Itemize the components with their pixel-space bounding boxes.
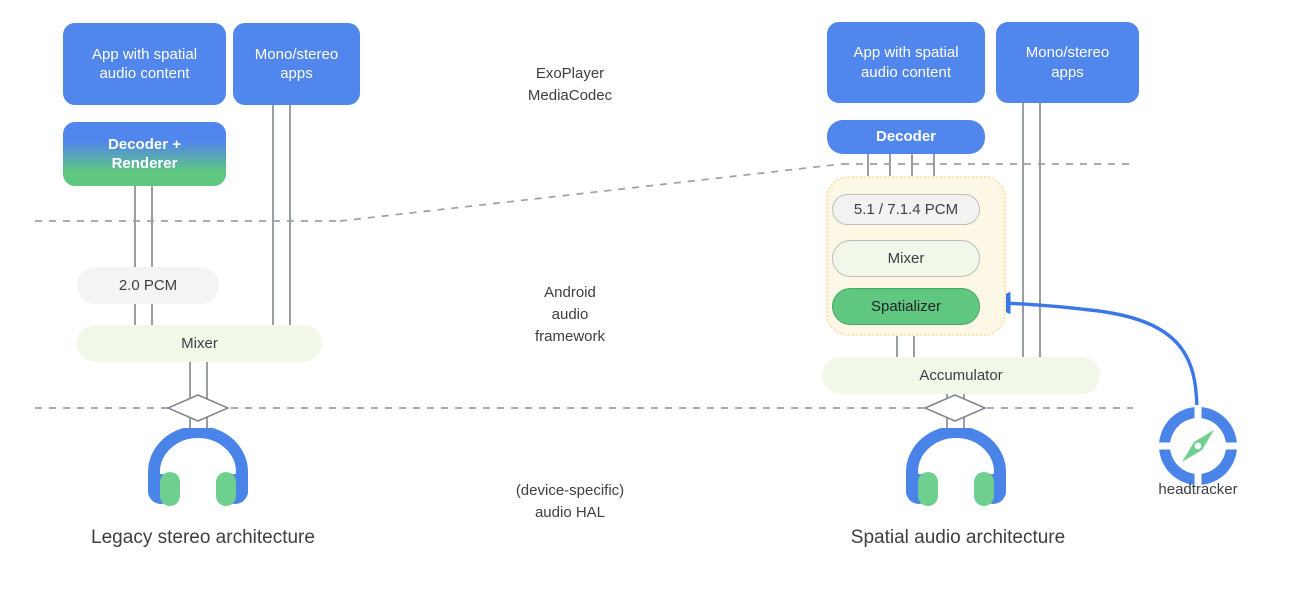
left-mono-stereo-apps-box[interactable]: Mono/stereoapps xyxy=(233,23,360,105)
right-decoder-box[interactable]: Decoder xyxy=(827,120,985,154)
layer-label-android-audio-framework: Androidaudioframework xyxy=(460,282,680,347)
right-pcm-label: 5.1 / 7.1.4 PCM xyxy=(854,200,958,219)
right-pcm-pill[interactable]: 5.1 / 7.1.4 PCM xyxy=(832,194,980,225)
left-pcm-pill[interactable]: 2.0 PCM xyxy=(77,267,219,304)
right-spatializer-label: Spatializer xyxy=(871,297,941,316)
left-mixer-label: Mixer xyxy=(181,334,218,353)
hal-junction-diamond-left xyxy=(168,395,228,421)
wire-group-left-decoder-to-mixer xyxy=(135,186,152,325)
left-app-mono-label: Mono/stereoapps xyxy=(255,45,338,83)
right-spatializer-pill[interactable]: Spatializer xyxy=(832,288,980,325)
right-accumulator-pill[interactable]: Accumulator xyxy=(822,357,1100,394)
wire-group-right-accumulator-to-output xyxy=(947,394,964,432)
left-headphones-icon xyxy=(142,428,254,506)
right-mono-stereo-apps-box[interactable]: Mono/stereoapps xyxy=(996,22,1139,103)
left-decoder-renderer-box[interactable]: Decoder +Renderer xyxy=(63,122,226,186)
right-app-with-spatial-audio-box[interactable]: App with spatialaudio content xyxy=(827,22,985,103)
right-accumulator-label: Accumulator xyxy=(919,366,1002,385)
headtracker-label: headtracker xyxy=(1128,481,1268,498)
layer-label-audio-hal: (device-specific)audio HAL xyxy=(460,480,680,524)
hal-junction-diamond-right xyxy=(925,395,985,421)
right-architecture-caption: Spatial audio architecture xyxy=(798,527,1118,549)
right-mixer-pill[interactable]: Mixer xyxy=(832,240,980,277)
diagram-canvas: App with spatialaudio content Mono/stere… xyxy=(0,0,1300,594)
wire-group-right-mono-to-accumulator xyxy=(1023,103,1040,357)
right-app-spatial-label: App with spatialaudio content xyxy=(853,43,958,81)
left-app-spatial-label: App with spatialaudio content xyxy=(92,45,197,83)
layer-label-exoplayer: ExoPlayerMediaCodec xyxy=(460,63,680,107)
right-decoder-label: Decoder xyxy=(876,127,936,146)
layer-divider-top-slope xyxy=(340,164,842,221)
wire-group-left-mono-to-mixer xyxy=(273,105,290,325)
left-pcm-label: 2.0 PCM xyxy=(119,276,177,295)
left-decoder-label: Decoder +Renderer xyxy=(108,135,181,173)
wire-group-left-mixer-to-output xyxy=(190,362,207,432)
left-app-with-spatial-audio-box[interactable]: App with spatialaudio content xyxy=(63,23,226,105)
headtracker-compass-icon xyxy=(1157,405,1239,487)
right-app-mono-label: Mono/stereoapps xyxy=(1026,43,1109,81)
right-mixer-label: Mixer xyxy=(888,249,925,268)
right-headphones-icon xyxy=(900,428,1012,506)
left-architecture-caption: Legacy stereo architecture xyxy=(43,527,363,549)
left-mixer-pill[interactable]: Mixer xyxy=(77,325,322,362)
